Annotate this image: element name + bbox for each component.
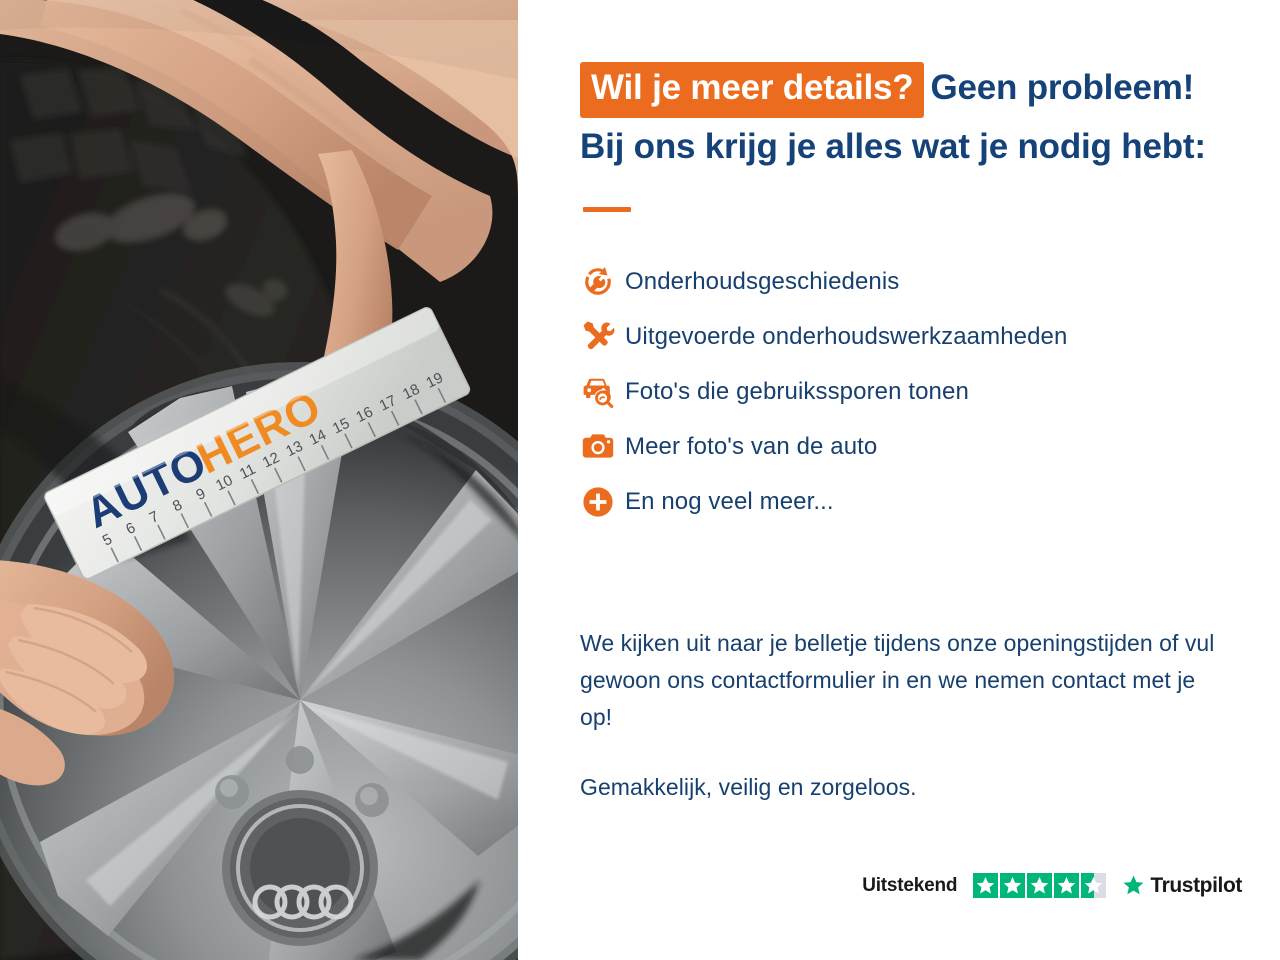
trustpilot-star-icon — [1122, 874, 1145, 897]
trustpilot-widget[interactable]: Uitstekend — [862, 873, 1242, 898]
camera-icon — [581, 427, 625, 467]
headline-line2: Bij ons krijg je alles wat je nodig hebt… — [580, 124, 1240, 171]
trustpilot-star-5-half — [1081, 873, 1106, 898]
promo-panel: AUTO HERO — [0, 0, 1280, 960]
feature-label: En nog veel meer... — [625, 488, 834, 516]
feature-list: Onderhoudsgeschiedenis Uitgevoerd — [581, 254, 1240, 529]
plus-circle-icon — [581, 482, 625, 522]
feature-label: Uitgevoerde onderhoudswerkzaamheden — [625, 323, 1067, 351]
trustpilot-star-3 — [1027, 873, 1052, 898]
feature-item-more-photos: Meer foto's van de auto — [581, 419, 1240, 474]
body-paragraph-1: We kijken uit naar je belletje tijdens o… — [580, 625, 1220, 735]
feature-item-service-history: Onderhoudsgeschiedenis — [581, 254, 1240, 309]
trustpilot-star-4 — [1054, 873, 1079, 898]
orange-divider — [583, 207, 631, 212]
headline-rest: Geen probleem! — [930, 68, 1194, 107]
content-panel: Wil je meer details?Geen probleem! Bij o… — [518, 0, 1280, 960]
feature-label: Onderhoudsgeschiedenis — [625, 268, 899, 296]
trustpilot-star-2 — [1000, 873, 1025, 898]
trustpilot-rating-word: Uitstekend — [862, 875, 957, 897]
photo-illustration: AUTO HERO — [0, 0, 518, 960]
body-copy: We kijken uit naar je belletje tijdens o… — [580, 625, 1220, 806]
headline-highlight-badge: Wil je meer details? — [580, 62, 924, 118]
feature-item-maintenance-work: Uitgevoerde onderhoudswerkzaamheden — [581, 309, 1240, 364]
page-title: Wil je meer details?Geen probleem! Bij o… — [580, 62, 1240, 170]
car-inspect-icon — [581, 372, 625, 412]
feature-item-much-more: En nog veel meer... — [581, 474, 1240, 529]
feature-label: Foto's die gebruikssporen tonen — [625, 378, 969, 406]
tools-icon — [581, 317, 625, 357]
trustpilot-stars — [973, 873, 1106, 898]
feature-label: Meer foto's van de auto — [625, 433, 877, 461]
trustpilot-star-1 — [973, 873, 998, 898]
feature-item-wear-photos: Foto's die gebruikssporen tonen — [581, 364, 1240, 419]
trustpilot-logo: Trustpilot — [1122, 874, 1242, 898]
trustpilot-logo-text: Trustpilot — [1150, 874, 1242, 898]
service-history-icon — [581, 262, 625, 302]
tire-gauge-photo: AUTO HERO — [0, 0, 518, 960]
body-paragraph-2: Gemakkelijk, veilig en zorgeloos. — [580, 769, 1220, 806]
